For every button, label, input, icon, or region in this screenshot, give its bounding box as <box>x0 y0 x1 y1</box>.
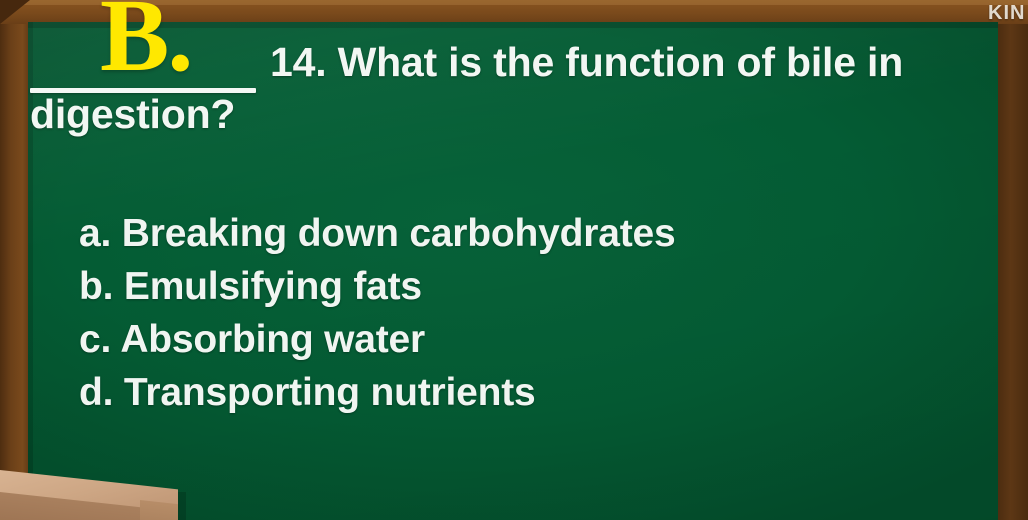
channel-watermark: KIN <box>988 2 1028 25</box>
frame-right-rail <box>996 0 1028 520</box>
quiz-chalkboard-screen: 14. What is the function of bile in dige… <box>0 0 1028 520</box>
option-a[interactable]: a. Breaking down carbohydrates <box>79 207 959 260</box>
desk-side-face <box>140 500 178 520</box>
option-d[interactable]: d. Transporting nutrients <box>79 366 959 419</box>
option-c[interactable]: c. Absorbing water <box>79 313 959 366</box>
wooden-desk-ledge <box>0 470 178 520</box>
option-b[interactable]: b. Emulsifying fats <box>79 260 959 313</box>
answer-options-list: a. Breaking down carbohydrates b. Emulsi… <box>79 207 959 419</box>
question-line-1: 14. What is the function of bile in <box>270 39 903 85</box>
answer-letter-overlay: B. <box>100 0 191 88</box>
frame-left-rail <box>0 0 30 520</box>
frame-corner-bevel <box>0 0 30 24</box>
question-line-2: digestion? <box>30 91 235 137</box>
